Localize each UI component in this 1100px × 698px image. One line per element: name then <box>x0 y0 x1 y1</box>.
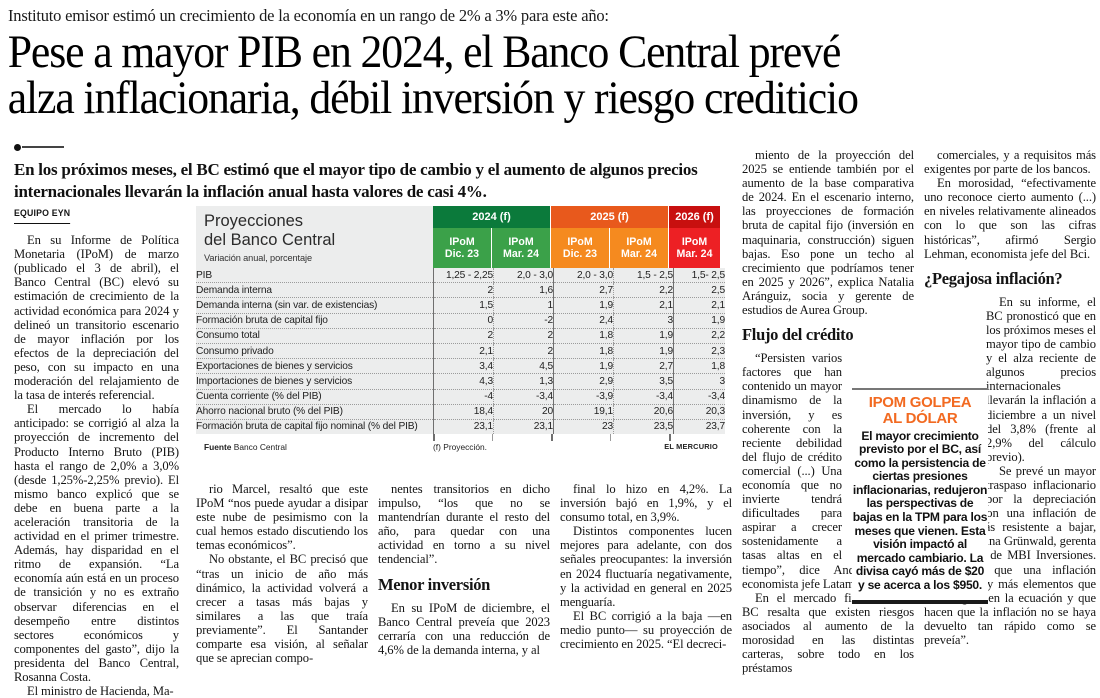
table-cell: 1,8 <box>674 359 726 374</box>
table-cell: 19,1 <box>554 404 614 419</box>
table-row: Demanda interna21,62,72,22,5 <box>196 283 725 298</box>
pullbox-body: El mayor crecimiento previsto por el BC,… <box>852 430 988 593</box>
divider <box>669 434 671 441</box>
ipom-subheader-row: IPoM Dic. 23 IPoM Mar. 24 IPoM Dic. 23 I… <box>433 228 720 268</box>
divider <box>433 434 435 441</box>
table-cell: 2 <box>434 328 494 343</box>
chart-credit: EL MERCURIO <box>664 442 718 451</box>
col-header-3-top: IPoM <box>567 236 592 248</box>
table-cell: 2 <box>494 328 554 343</box>
table-cell: 2,1 <box>674 298 726 313</box>
body-column-3: nentes transitorios en dicho impulso, “l… <box>378 482 550 657</box>
table-cell: 1,5 <box>434 298 494 313</box>
newspaper-page: Instituto emisor estimó un crecimiento d… <box>0 0 1100 647</box>
table-cell: 1,5 - 2,5 <box>614 268 674 283</box>
lead-block: En los próximos meses, el BC estimó que … <box>14 142 714 203</box>
table-cell: 1,8 <box>554 328 614 343</box>
paragraph: No obstante, el BC precisó que “tras un … <box>196 552 368 665</box>
table-cell: 1,25 - 2,25 <box>434 268 494 283</box>
chart-title-line-2: del Banco Central <box>204 231 433 250</box>
col-header-5-bottom: Mar. 24 <box>677 248 713 260</box>
table-cell: 1,9 <box>614 343 674 358</box>
bullet-rule <box>14 142 714 152</box>
table-row: Demanda interna (sin var. de existencias… <box>196 298 725 313</box>
col-header-4: IPoM Mar. 24 <box>610 228 669 268</box>
table-row: Formación bruta de capital fijo nominal … <box>196 419 725 434</box>
row-label: Cuenta corriente (% del PIB) <box>196 389 434 404</box>
table-cell: -2 <box>494 313 554 328</box>
row-label: PIB <box>196 268 434 283</box>
paragraph: El BC corrigió a la baja —en medio punto… <box>560 609 732 651</box>
row-label: Exportaciones de bienes y servicios <box>196 359 434 374</box>
paragraph: En morosidad, “efectivamente uno reconoc… <box>924 176 1096 261</box>
section-heading-pegajosa-inflacion: ¿Pegajosa inflación? <box>924 270 1096 288</box>
pullbox-title-line-2: AL DÓLAR <box>852 411 988 427</box>
pullbox-top-rule <box>852 388 988 390</box>
projections-table: PIB1,25 - 2,252,0 - 3,02,0 - 3,01,5 - 2,… <box>196 268 725 434</box>
year-group-2026: 2026 (f) <box>669 206 720 228</box>
page-title: Pese a mayor PIB en 2024, el Banco Centr… <box>4 30 1020 121</box>
table-cell: 2,0 - 3,0 <box>554 268 614 283</box>
table-row: Consumo privado2,121,81,92,3 <box>196 343 725 358</box>
chart-subtitle: Variación anual, porcentaje <box>204 253 433 263</box>
table-cell: 23,7 <box>674 419 726 434</box>
table-cell: -3,4 <box>494 389 554 404</box>
section-heading-menor-inversion: Menor inversión <box>378 576 550 594</box>
body-column-1: EQUIPO EYN En su Informe de Política Mon… <box>14 205 179 698</box>
table-cell: 23 <box>554 419 614 434</box>
body-column-2: rio Marcel, resaltó que este IPoM “nos p… <box>196 482 368 665</box>
bullet-dot-icon <box>14 144 21 151</box>
projections-table-body: PIB1,25 - 2,252,0 - 3,02,0 - 3,01,5 - 2,… <box>196 268 725 434</box>
table-cell: 1,8 <box>554 343 614 358</box>
divider <box>492 434 493 441</box>
table-cell: 3,4 <box>434 359 494 374</box>
table-cell: 2,5 <box>674 283 726 298</box>
source-value: Banco Central <box>234 442 287 452</box>
table-cell: 20,3 <box>674 404 726 419</box>
table-cell: 23,1 <box>434 419 494 434</box>
table-cell: 4,5 <box>494 359 554 374</box>
headline-line-1: Pese a mayor PIB en 2024, el Banco Centr… <box>8 30 1020 75</box>
col-header-4-bottom: Mar. 24 <box>621 248 657 260</box>
table-row: PIB1,25 - 2,252,0 - 3,02,0 - 3,01,5 - 2,… <box>196 268 725 283</box>
projections-infographic: Proyecciones del Banco Central Variación… <box>196 206 720 456</box>
table-cell: 1,3 <box>494 374 554 389</box>
pullbox-title-line-1: IPOM GOLPEA <box>852 395 988 411</box>
col-header-2-top: IPoM <box>508 236 533 248</box>
table-row: Consumo total221,81,92,2 <box>196 328 725 343</box>
source-attribution: Fuente Banco Central <box>204 442 287 452</box>
table-cell: 2,2 <box>614 283 674 298</box>
table-cell: 23,1 <box>494 419 554 434</box>
pullquote-box: IPOM GOLPEA AL DÓLAR El mayor crecimient… <box>852 388 988 604</box>
table-cell: 1,9 <box>554 359 614 374</box>
paragraph: En su IPoM de diciembre, el Banco Centra… <box>378 601 550 657</box>
table-cell: -3,4 <box>674 389 726 404</box>
paragraph: En su Informe de Política Monetaria (IPo… <box>14 233 179 402</box>
col-header-3-bottom: Dic. 23 <box>563 248 597 260</box>
table-cell: 2,9 <box>554 374 614 389</box>
table-cell: 1,9 <box>674 313 726 328</box>
chart-title-line-1: Proyecciones <box>204 212 433 231</box>
row-label: Demanda interna <box>196 283 434 298</box>
table-cell: 2,2 <box>674 328 726 343</box>
table-cell: 2,7 <box>554 283 614 298</box>
row-label: Consumo total <box>196 328 434 343</box>
table-row: Cuenta corriente (% del PIB)-4-3,4-3,9-3… <box>196 389 725 404</box>
table-row: Importaciones de bienes y servicios4,31,… <box>196 374 725 389</box>
year-group-2024: 2024 (f) <box>433 206 551 228</box>
table-cell: -3,9 <box>554 389 614 404</box>
pullbox-bottom-rule <box>852 600 988 605</box>
row-label: Formación bruta de capital fijo nominal … <box>196 419 434 434</box>
source-label: Fuente <box>204 442 231 452</box>
table-cell: 2,1 <box>614 298 674 313</box>
chart-title-block: Proyecciones del Banco Central Variación… <box>196 206 433 268</box>
col-header-5: IPoM Mar. 24 <box>669 228 720 268</box>
col-header-2-bottom: Mar. 24 <box>503 248 539 260</box>
body-column-4: final lo hizo en 4,2%. La inversión bajó… <box>560 482 732 651</box>
paragraph: final lo hizo en 4,2%. La inversión bajó… <box>560 482 732 524</box>
chart-column-headers: 2024 (f) 2025 (f) 2026 (f) IPoM Dic. 23 … <box>433 206 720 268</box>
table-cell: 2,3 <box>674 343 726 358</box>
byline: EQUIPO EYN <box>14 207 70 224</box>
divider <box>551 434 553 441</box>
col-header-2: IPoM Mar. 24 <box>492 228 551 268</box>
col-header-5-top: IPoM <box>682 236 707 248</box>
paragraph: El mercado lo había anticipado: se corri… <box>14 402 179 684</box>
rule-line <box>22 146 64 148</box>
headline-line-2: alza inflacionaria, débil inversión y ri… <box>8 76 1020 121</box>
paragraph: rio Marcel, resaltó que este IPoM “nos p… <box>196 482 368 552</box>
col-header-3: IPoM Dic. 23 <box>551 228 610 268</box>
table-cell: 20,6 <box>614 404 674 419</box>
col-header-1-top: IPoM <box>449 236 474 248</box>
row-label: Consumo privado <box>196 343 434 358</box>
col-header-1: IPoM Dic. 23 <box>433 228 492 268</box>
year-group-row: 2024 (f) 2025 (f) 2026 (f) <box>433 206 720 228</box>
table-cell: 1,9 <box>554 298 614 313</box>
table-cell: 4,3 <box>434 374 494 389</box>
chart-footnote: (f) Proyección. <box>433 442 487 452</box>
table-cell: 2,1 <box>434 343 494 358</box>
paragraph: comerciales, y a requisitos más exigente… <box>924 148 1096 176</box>
table-cell: -3,4 <box>614 389 674 404</box>
col-header-4-top: IPoM <box>626 236 651 248</box>
table-cell: 3 <box>674 374 726 389</box>
col-header-1-bottom: Dic. 23 <box>445 248 479 260</box>
table-cell: 2 <box>434 283 494 298</box>
table-row: Ahorro nacional bruto (% del PIB)18,4201… <box>196 404 725 419</box>
table-row: Formación bruta de capital fijo0-22,431,… <box>196 313 725 328</box>
kicker: Instituto emisor estimó un crecimiento d… <box>4 6 1096 26</box>
section-heading-flujo-del-credito: Flujo del crédito <box>742 326 914 344</box>
chart-header: Proyecciones del Banco Central Variación… <box>196 206 720 268</box>
footer-dividers <box>196 434 720 441</box>
table-cell: -4 <box>434 389 494 404</box>
year-group-2025: 2025 (f) <box>551 206 669 228</box>
lead-paragraph: En los próximos meses, el BC estimó que … <box>14 159 704 203</box>
table-cell: 1,5- 2,5 <box>674 268 726 283</box>
table-cell: 2,0 - 3,0 <box>494 268 554 283</box>
table-cell: 2,7 <box>614 359 674 374</box>
table-cell: 2,4 <box>554 313 614 328</box>
table-cell: 3,5 <box>614 374 674 389</box>
table-cell: 20 <box>494 404 554 419</box>
table-cell: 1,9 <box>614 328 674 343</box>
row-label: Formación bruta de capital fijo <box>196 313 434 328</box>
table-cell: 2 <box>494 343 554 358</box>
table-cell: 3 <box>614 313 674 328</box>
table-cell: 23,5 <box>614 419 674 434</box>
table-cell: 18,4 <box>434 404 494 419</box>
table-cell: 1,6 <box>494 283 554 298</box>
paragraph: miento de la proyección del 2025 se enti… <box>742 148 914 317</box>
row-label: Ahorro nacional bruto (% del PIB) <box>196 404 434 419</box>
chart-footer: Fuente Banco Central (f) Proyección. EL … <box>196 434 720 456</box>
table-cell: 0 <box>434 313 494 328</box>
paragraph: Distintos componentes lucen mejores para… <box>560 524 732 609</box>
table-cell: 1 <box>494 298 554 313</box>
row-label: Demanda interna (sin var. de existencias… <box>196 298 434 313</box>
paragraph: nentes transitorios en dicho impulso, “l… <box>378 482 550 567</box>
row-label: Importaciones de bienes y servicios <box>196 374 434 389</box>
table-row: Exportaciones de bienes y servicios3,44,… <box>196 359 725 374</box>
divider <box>610 434 611 441</box>
paragraph: El ministro de Hacienda, Ma- <box>14 684 179 698</box>
